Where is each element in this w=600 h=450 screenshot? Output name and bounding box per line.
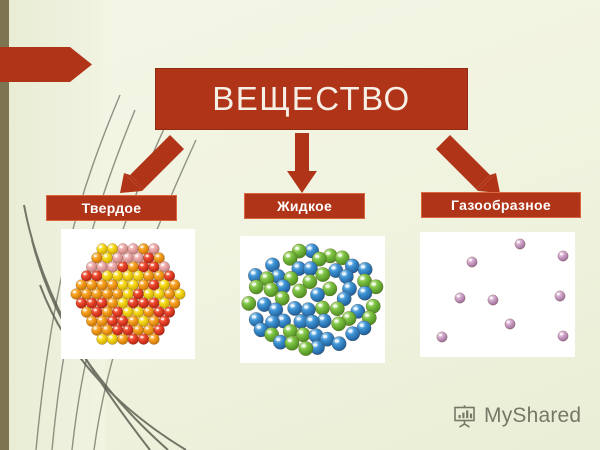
title-box: ВЕЩЕСТВО (155, 68, 468, 130)
liquid-cluster-svg (240, 236, 385, 363)
gas-scatter-svg (420, 232, 575, 357)
page-title: ВЕЩЕСТВО (212, 80, 410, 118)
illustration-solid (61, 229, 195, 359)
illustration-gas (420, 232, 575, 357)
slide-canvas: ВЕЩЕСТВО Твердое Жидкое Газообразное (0, 0, 600, 450)
illustration-liquid (240, 236, 385, 363)
solid-lattice-svg (61, 229, 195, 359)
state-label-liquid-text: Жидкое (277, 198, 332, 214)
state-label-solid: Твердое (46, 195, 177, 221)
state-label-liquid: Жидкое (244, 193, 365, 219)
state-label-solid-text: Твердое (82, 200, 142, 216)
state-label-gas-text: Газообразное (451, 197, 551, 213)
watermark-text: MyShared (484, 404, 581, 428)
presentation-chart-icon (452, 404, 478, 428)
watermark: MyShared (452, 404, 581, 428)
top-left-arrow-banner (0, 47, 92, 82)
arrow-to-liquid-icon (286, 133, 318, 195)
arrow-to-solid-icon (118, 133, 186, 195)
arrow-to-gas-icon (434, 133, 502, 195)
state-label-gas: Газообразное (421, 192, 581, 218)
